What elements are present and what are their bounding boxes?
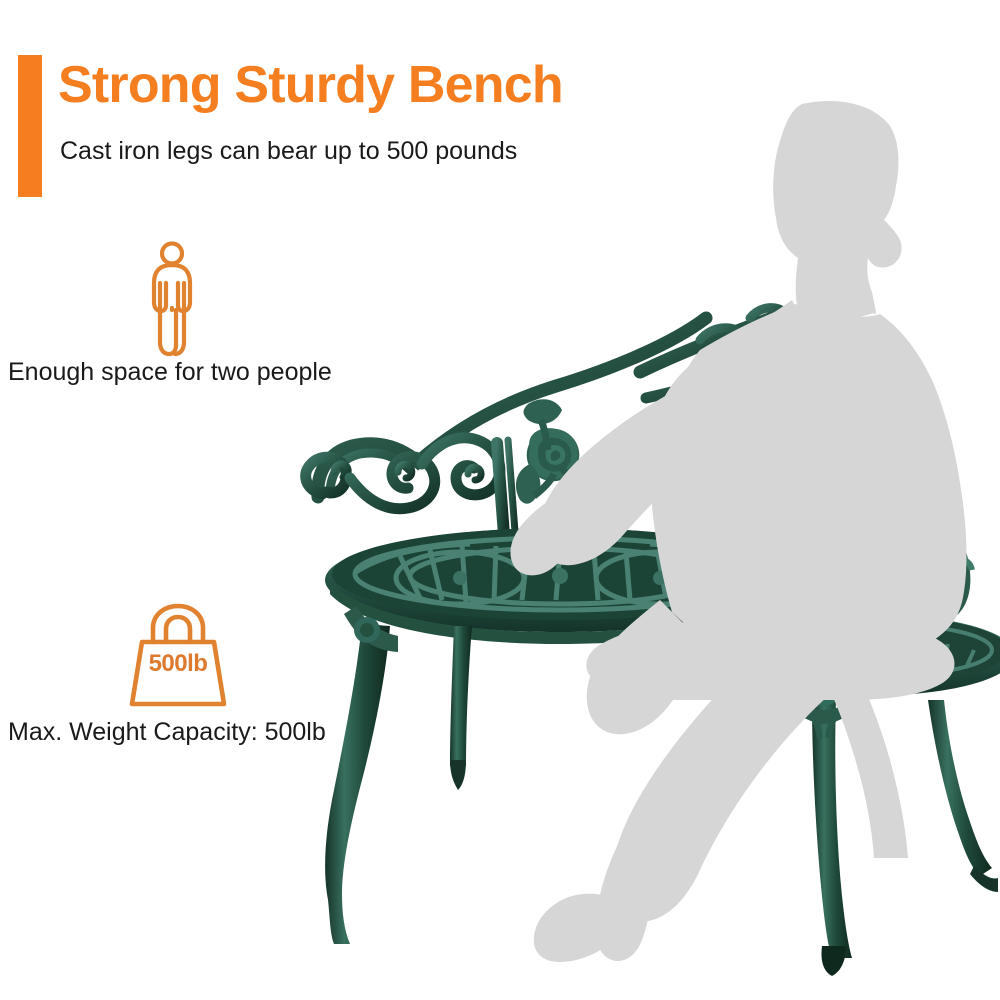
seated-man-silhouette xyxy=(511,101,967,962)
bench-leg-bracket-left xyxy=(344,606,398,652)
page-subtitle: Cast iron legs can bear up to 500 pounds xyxy=(60,136,780,166)
page-title: Strong Sturdy Bench xyxy=(58,58,758,113)
weight-bag-icon-label: 500lb xyxy=(126,650,230,678)
feature-caption-max-weight: Max. Weight Capacity: 500lb xyxy=(8,718,448,747)
bench-backrest-right xyxy=(640,308,790,470)
person-standing-icon xyxy=(143,240,201,358)
bench-leg-rear-left xyxy=(450,626,472,766)
bench-seat-right xyxy=(745,498,1000,695)
product-feature-banner: Strong Sturdy Bench Cast iron legs can b… xyxy=(0,0,1000,1000)
orange-accent-bar xyxy=(18,55,42,197)
bench-backrest-left xyxy=(306,318,706,548)
bench-seat xyxy=(325,528,795,644)
bench-leg-rear-right xyxy=(928,700,992,876)
bench-leg-front-right xyxy=(778,674,870,976)
bench-legs xyxy=(325,606,998,976)
bench-rose-motif-right xyxy=(673,395,780,444)
feature-caption-capacity-people: Enough space for two people xyxy=(8,358,428,387)
bench-leg-front-left xyxy=(325,624,390,944)
bench-rose-motif-left xyxy=(516,399,622,512)
